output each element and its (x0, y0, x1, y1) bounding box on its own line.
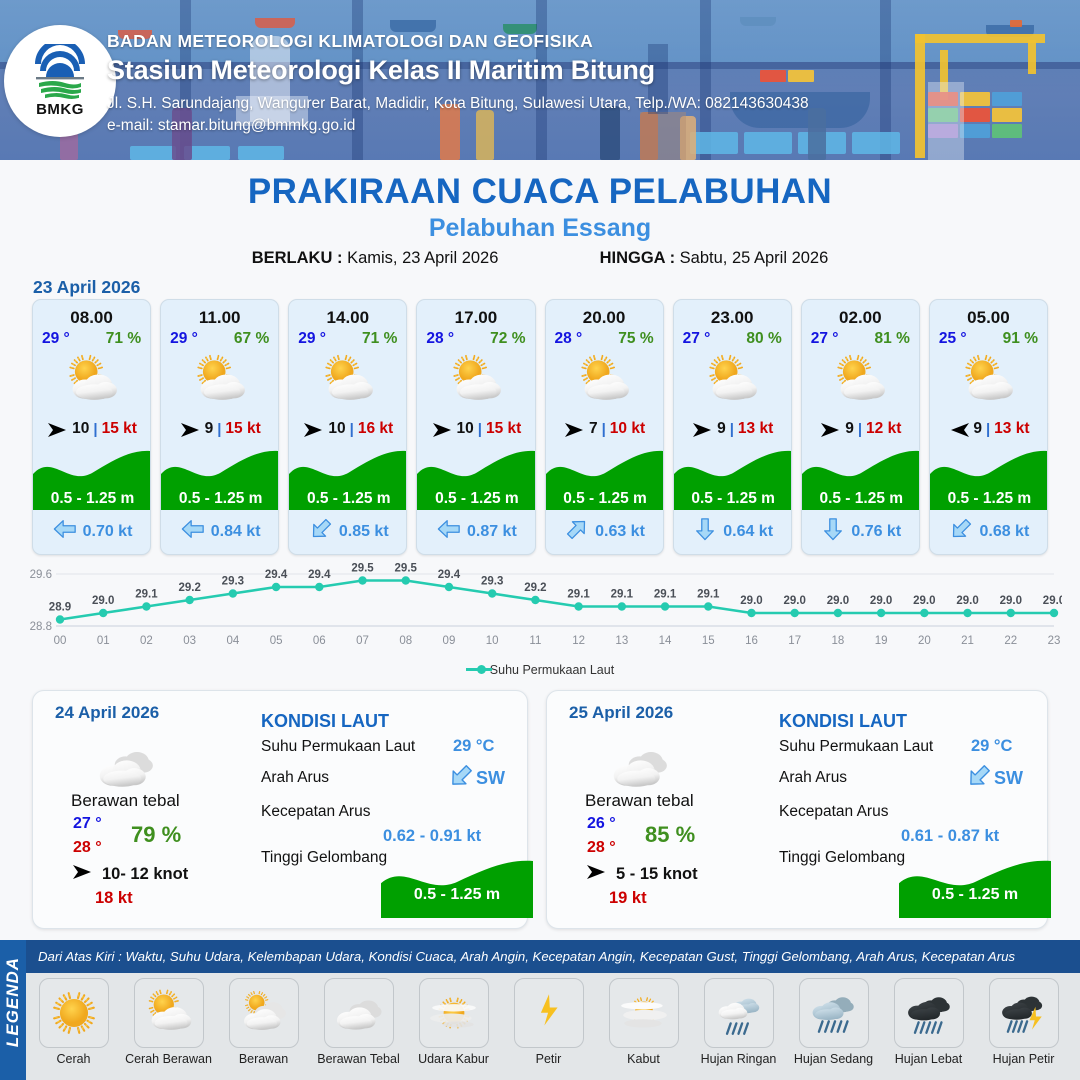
card-wind-speed: 9 (845, 420, 854, 438)
legend-icon-berawan (229, 978, 299, 1048)
svg-text:29.2: 29.2 (524, 582, 546, 594)
card-humidity: 72 % (490, 330, 525, 348)
daily-panel-25april: 25 April 2026 Berawan tebal 26 ° 28 ° 85… (546, 690, 1048, 929)
card-gust: 12 kt (866, 420, 901, 438)
legend-item: Petir (505, 978, 592, 1066)
wind-direction-arrow-icon (819, 421, 841, 437)
chart-legend-swatch (466, 668, 492, 671)
wind-direction-arrow-icon (46, 421, 68, 437)
wind-direction-arrow-icon (302, 421, 324, 437)
card-wind-row: 9 | 13 kt (930, 416, 1047, 442)
svg-text:29.0: 29.0 (956, 595, 978, 607)
wind-direction-arrow-icon (947, 421, 969, 437)
svg-text:29.3: 29.3 (481, 576, 503, 588)
svg-text:29.0: 29.0 (913, 595, 935, 607)
legend-item-label: Hujan Lebat (895, 1052, 962, 1066)
card-wind-speed: 7 (589, 420, 598, 438)
legend-item: Cerah (30, 978, 117, 1066)
current-direction-arrow-icon (565, 517, 589, 546)
current-direction-label: Arah Arus (261, 769, 329, 787)
legend-item: Hujan Sedang (790, 978, 877, 1066)
daily-gust: 19 kt (609, 889, 647, 908)
card-gust: 13 kt (994, 420, 1029, 438)
card-wind-row: 9 | 12 kt (802, 416, 919, 442)
legend-icon-udara-kabur (419, 978, 489, 1048)
sst-value: 29 °C (453, 737, 494, 756)
legend-icon-hujan-lebat (894, 978, 964, 1048)
card-weather-icon (33, 350, 150, 412)
current-direction-arrow-icon (448, 763, 474, 794)
svg-text:05: 05 (270, 635, 283, 647)
current-speed-value: 0.61 - 0.87 kt (901, 827, 999, 846)
card-current-speed: 0.63 kt (595, 523, 645, 541)
card-weather-icon (161, 350, 278, 412)
svg-text:29.5: 29.5 (351, 563, 374, 575)
wave-height-label: Tinggi Gelombang (261, 849, 387, 867)
svg-text:29.2: 29.2 (178, 582, 200, 594)
card-temperature: 27 ° (683, 330, 711, 348)
card-separator: | (478, 421, 482, 438)
svg-text:20: 20 (918, 635, 931, 647)
card-wind-row: 7 | 10 kt (546, 416, 663, 442)
svg-text:29.0: 29.0 (1043, 595, 1062, 607)
card-wave-height: 0.5 - 1.25 m (930, 490, 1048, 508)
hourly-card: 02.00 27 ° 81 % 9 | (801, 299, 920, 555)
legend-icon-cerah (39, 978, 109, 1048)
daily-humidity: 79 % (131, 822, 181, 848)
wind-direction-arrow-icon (431, 421, 453, 437)
wind-direction-arrow-icon (691, 421, 713, 437)
wind-direction-arrow-icon (563, 421, 585, 437)
svg-text:28.9: 28.9 (49, 602, 71, 614)
svg-text:29.5: 29.5 (395, 563, 418, 575)
svg-text:29.0: 29.0 (1000, 595, 1022, 607)
legend-item: Hujan Ringan (695, 978, 782, 1066)
legend-icon-kabut (609, 978, 679, 1048)
legend-item: Kabut (600, 978, 687, 1066)
card-wind-row: 10 | 16 kt (289, 416, 406, 442)
card-current-row: 0.84 kt (161, 517, 279, 546)
card-temperature: 28 ° (426, 330, 454, 348)
current-direction-arrow-icon (821, 517, 845, 546)
svg-text:12: 12 (572, 635, 585, 647)
card-current-row: 0.63 kt (546, 517, 664, 546)
card-time: 20.00 (546, 308, 663, 328)
card-wave-height: 0.5 - 1.25 m (161, 490, 279, 508)
legend-item: Hujan Petir (980, 978, 1067, 1066)
hourly-card: 14.00 29 ° 71 % 10 | (288, 299, 407, 555)
card-gust: 15 kt (225, 420, 260, 438)
legend-item: Berawan (220, 978, 307, 1066)
header-text-block: BADAN METEOROLOGI KLIMATOLOGI DAN GEOFIS… (107, 31, 1047, 135)
svg-text:19: 19 (875, 635, 888, 647)
daily-temp-min: 27 ° (73, 815, 102, 833)
card-current-speed: 0.70 kt (83, 523, 133, 541)
card-temperature: 27 ° (811, 330, 839, 348)
current-direction-value-row: SW (448, 763, 505, 794)
card-current-row: 0.85 kt (289, 517, 407, 546)
current-direction-label: Arah Arus (779, 769, 847, 787)
bmkg-logo-mark (29, 44, 91, 100)
legend-item-label: Hujan Ringan (701, 1052, 777, 1066)
daily-wave-value: 0.5 - 1.25 m (381, 886, 533, 904)
card-time: 23.00 (674, 308, 791, 328)
card-humidity: 81 % (875, 330, 910, 348)
hourly-card: 17.00 28 ° 72 % 10 | (416, 299, 535, 555)
daily-wind-speed: 10- 12 knot (102, 865, 188, 884)
svg-text:02: 02 (140, 635, 153, 647)
wave-height-label: Tinggi Gelombang (779, 849, 905, 867)
card-time: 02.00 (802, 308, 919, 328)
card-current-row: 0.70 kt (33, 517, 151, 546)
card-weather-icon (417, 350, 534, 412)
daily-temp-min: 26 ° (587, 815, 616, 833)
svg-text:29.0: 29.0 (92, 595, 114, 607)
chart-legend: Suhu Permukaan Laut (0, 663, 1080, 677)
card-time: 14.00 (289, 308, 406, 328)
page-subtitle: Pelabuhan Essang (0, 214, 1080, 243)
hourly-card: 08.00 29 ° 71 % 10 | (32, 299, 151, 555)
card-weather-icon (930, 350, 1047, 412)
svg-text:29.1: 29.1 (611, 589, 634, 601)
wind-direction-arrow-icon (71, 863, 95, 886)
card-current-speed: 0.68 kt (979, 523, 1029, 541)
card-time: 08.00 (33, 308, 150, 328)
valid-from-label: BERLAKU : (252, 249, 343, 267)
card-humidity: 91 % (1003, 330, 1038, 348)
card-separator: | (986, 421, 990, 438)
card-temperature: 29 ° (170, 330, 198, 348)
current-speed-label: Kecepatan Arus (261, 803, 370, 821)
card-current-speed: 0.85 kt (339, 523, 389, 541)
card-separator: | (730, 421, 734, 438)
svg-text:03: 03 (183, 635, 196, 647)
svg-text:29.3: 29.3 (222, 576, 244, 588)
card-humidity: 71 % (106, 330, 141, 348)
card-weather-icon (289, 350, 406, 412)
daily-temp-max: 28 ° (587, 839, 616, 857)
legend-item-label: Kabut (627, 1052, 660, 1066)
station-address: Jl. S.H. Sarundajang, Wangurer Barat, Ma… (107, 95, 1047, 113)
svg-text:29.0: 29.0 (827, 595, 849, 607)
card-wind-speed: 10 (72, 420, 89, 438)
card-wave-height: 0.5 - 1.25 m (417, 490, 535, 508)
card-wave-height: 0.5 - 1.25 m (674, 490, 792, 508)
valid-to-value: Sabtu, 25 April 2026 (680, 249, 829, 267)
legend-item: Udara Kabur (410, 978, 497, 1066)
svg-text:16: 16 (745, 635, 758, 647)
bmkg-logo-text: BMKG (36, 101, 84, 118)
card-humidity: 80 % (746, 330, 781, 348)
card-gust: 16 kt (358, 420, 393, 438)
card-wind-row: 10 | 15 kt (417, 416, 534, 442)
card-wind-row: 10 | 15 kt (33, 416, 150, 442)
legend-item-label: Petir (536, 1052, 562, 1066)
card-time: 17.00 (417, 308, 534, 328)
legend-item-label: Cerah (56, 1052, 90, 1066)
card-wind-speed: 9 (973, 420, 982, 438)
card-weather-icon (802, 350, 919, 412)
card-temperature: 25 ° (939, 330, 967, 348)
card-gust: 15 kt (102, 420, 137, 438)
legend-item-label: Berawan (239, 1052, 288, 1066)
legend-item-label: Hujan Sedang (794, 1052, 873, 1066)
svg-text:29.0: 29.0 (870, 595, 892, 607)
svg-text:29.1: 29.1 (567, 589, 590, 601)
svg-text:29.4: 29.4 (438, 569, 461, 581)
card-temperature: 29 ° (42, 330, 70, 348)
legend-note: Dari Atas Kiri : Waktu, Suhu Udara, Kele… (26, 940, 1080, 973)
wind-direction-arrow-icon (179, 421, 201, 437)
sst-value: 29 °C (971, 737, 1012, 756)
svg-text:29.1: 29.1 (654, 589, 677, 601)
legend-icon-cerah-berawan (134, 978, 204, 1048)
svg-text:14: 14 (659, 635, 672, 647)
sst-label: Suhu Permukaan Laut (261, 738, 415, 756)
svg-text:17: 17 (788, 635, 801, 647)
daily-gust: 18 kt (95, 889, 133, 908)
daily-date: 25 April 2026 (569, 703, 673, 723)
hourly-day-label: 23 April 2026 (33, 277, 140, 298)
card-gust: 15 kt (486, 420, 521, 438)
card-separator: | (350, 421, 354, 438)
current-direction-arrow-icon (437, 517, 461, 546)
current-direction-value: SW (994, 768, 1023, 789)
daily-panel-24april: 24 April 2026 Berawan tebal 27 ° 28 ° 79… (32, 690, 528, 929)
daily-wind-row: 10- 12 knot (71, 863, 188, 886)
page-title: PRAKIRAAN CUACA PELABUHAN (0, 172, 1080, 212)
card-wave-height: 0.5 - 1.25 m (33, 490, 151, 508)
legend-icon-hujan-sedang (799, 978, 869, 1048)
legend-icon-berawan-tebal (324, 978, 394, 1048)
svg-text:21: 21 (961, 635, 974, 647)
legend-item: Berawan Tebal (315, 978, 402, 1066)
card-current-row: 0.76 kt (802, 517, 920, 546)
legend-icon-hujan-ringan (704, 978, 774, 1048)
card-weather-icon (674, 350, 791, 412)
card-humidity: 67 % (234, 330, 269, 348)
card-humidity: 71 % (362, 330, 397, 348)
chart-legend-label: Suhu Permukaan Laut (490, 663, 614, 677)
svg-text:13: 13 (615, 635, 628, 647)
card-temperature: 28 ° (555, 330, 583, 348)
page-header: BMKG BADAN METEOROLOGI KLIMATOLOGI DAN G… (0, 0, 1080, 160)
legend-side-label: LEGENDA (3, 952, 23, 1052)
legend-item-label: Cerah Berawan (125, 1052, 212, 1066)
card-current-speed: 0.76 kt (851, 523, 901, 541)
card-current-row: 0.87 kt (417, 517, 535, 546)
daily-wind-row: 5 - 15 knot (585, 863, 698, 886)
svg-text:29.4: 29.4 (308, 569, 331, 581)
svg-text:18: 18 (832, 635, 845, 647)
svg-text:23: 23 (1048, 635, 1061, 647)
daily-condition: Berawan tebal (585, 791, 694, 811)
svg-text:29.1: 29.1 (135, 589, 158, 601)
card-current-speed: 0.87 kt (467, 523, 517, 541)
svg-text:07: 07 (356, 635, 369, 647)
card-wave-height: 0.5 - 1.25 m (546, 490, 664, 508)
station-name: Stasiun Meteorologi Kelas II Maritim Bit… (107, 55, 1047, 86)
svg-text:15: 15 (702, 635, 715, 647)
current-speed-value: 0.62 - 0.91 kt (383, 827, 481, 846)
bmkg-logo: BMKG (4, 25, 116, 137)
card-wind-row: 9 | 13 kt (674, 416, 791, 442)
wind-direction-arrow-icon (585, 863, 609, 886)
valid-from-value: Kamis, 23 April 2026 (347, 249, 498, 267)
card-time: 05.00 (930, 308, 1047, 328)
card-wind-row: 9 | 15 kt (161, 416, 278, 442)
svg-text:06: 06 (313, 635, 326, 647)
svg-text:29.4: 29.4 (265, 569, 288, 581)
current-direction-arrow-icon (693, 517, 717, 546)
svg-text:08: 08 (399, 635, 412, 647)
hourly-card: 11.00 29 ° 67 % 9 | (160, 299, 279, 555)
svg-text:09: 09 (443, 635, 456, 647)
sea-condition-title: KONDISI LAUT (779, 711, 907, 732)
valid-to-label: HINGGA : (600, 249, 675, 267)
card-separator: | (602, 421, 606, 438)
current-direction-arrow-icon (309, 517, 333, 546)
legend-item-label: Hujan Petir (993, 1052, 1055, 1066)
daily-humidity: 85 % (645, 822, 695, 848)
current-speed-label: Kecepatan Arus (779, 803, 888, 821)
svg-text:29.0: 29.0 (784, 595, 806, 607)
sst-chart: 29.628.828.90029.00129.10229.20329.30429… (22, 560, 1062, 660)
card-current-speed: 0.64 kt (723, 523, 773, 541)
card-wind-speed: 9 (205, 420, 214, 438)
current-direction-arrow-icon (966, 763, 992, 794)
agency-name: BADAN METEOROLOGI KLIMATOLOGI DAN GEOFIS… (107, 31, 1047, 52)
current-direction-arrow-icon (53, 517, 77, 546)
card-current-row: 0.68 kt (930, 517, 1048, 546)
current-direction-value: SW (476, 768, 505, 789)
sea-condition-title: KONDISI LAUT (261, 711, 389, 732)
legend-side-tab: LEGENDA (0, 940, 26, 1080)
card-wave-height: 0.5 - 1.25 m (289, 490, 407, 508)
legend-item-label: Berawan Tebal (317, 1052, 399, 1066)
hourly-card: 05.00 25 ° 91 % 9 | (929, 299, 1048, 555)
current-direction-arrow-icon (949, 517, 973, 546)
daily-wave-value: 0.5 - 1.25 m (899, 886, 1051, 904)
svg-text:29.0: 29.0 (740, 595, 762, 607)
legend-item: Hujan Lebat (885, 978, 972, 1066)
station-email: e-mail: stamar.bitung@bmmkg.go.id (107, 117, 1047, 135)
sst-label: Suhu Permukaan Laut (779, 738, 933, 756)
svg-text:01: 01 (97, 635, 110, 647)
legend-icon-list: Cerah Cerah Berawan (30, 978, 1075, 1066)
card-temperature: 29 ° (298, 330, 326, 348)
legend-icon-hujan-petir (989, 978, 1059, 1048)
legend-item-label: Udara Kabur (418, 1052, 489, 1066)
daily-date: 24 April 2026 (55, 703, 159, 723)
card-humidity: 75 % (618, 330, 653, 348)
svg-text:11: 11 (529, 635, 541, 647)
card-wave-height: 0.5 - 1.25 m (802, 490, 920, 508)
svg-text:29.1: 29.1 (697, 589, 720, 601)
card-current-row: 0.64 kt (674, 517, 792, 546)
svg-text:00: 00 (54, 635, 67, 647)
daily-wind-speed: 5 - 15 knot (616, 865, 698, 884)
svg-text:29.6: 29.6 (30, 569, 52, 581)
card-gust: 13 kt (738, 420, 773, 438)
card-weather-icon (546, 350, 663, 412)
card-wind-speed: 9 (717, 420, 726, 438)
svg-text:28.8: 28.8 (30, 621, 52, 633)
legend-item: Cerah Berawan (125, 978, 212, 1066)
card-separator: | (93, 421, 97, 438)
hourly-card: 20.00 28 ° 75 % 7 | (545, 299, 664, 555)
card-wind-speed: 10 (328, 420, 345, 438)
hourly-forecast-cards: 08.00 29 ° 71 % 10 | (32, 299, 1048, 555)
card-separator: | (217, 421, 221, 438)
validity-row: BERLAKU : Kamis, 23 April 2026 HINGGA : … (0, 249, 1080, 268)
legend-icon-petir (514, 978, 584, 1048)
daily-temp-max: 28 ° (73, 839, 102, 857)
daily-condition: Berawan tebal (71, 791, 180, 811)
hourly-card: 23.00 27 ° 80 % 9 | (673, 299, 792, 555)
card-current-speed: 0.84 kt (211, 523, 261, 541)
card-time: 11.00 (161, 308, 278, 328)
card-separator: | (858, 421, 862, 438)
legend-bar: LEGENDA Dari Atas Kiri : Waktu, Suhu Uda… (0, 940, 1080, 1080)
card-gust: 10 kt (610, 420, 645, 438)
current-direction-value-row: SW (966, 763, 1023, 794)
svg-text:22: 22 (1004, 635, 1017, 647)
card-wind-speed: 10 (457, 420, 474, 438)
current-direction-arrow-icon (181, 517, 205, 546)
svg-text:04: 04 (226, 635, 239, 647)
svg-text:10: 10 (486, 635, 499, 647)
